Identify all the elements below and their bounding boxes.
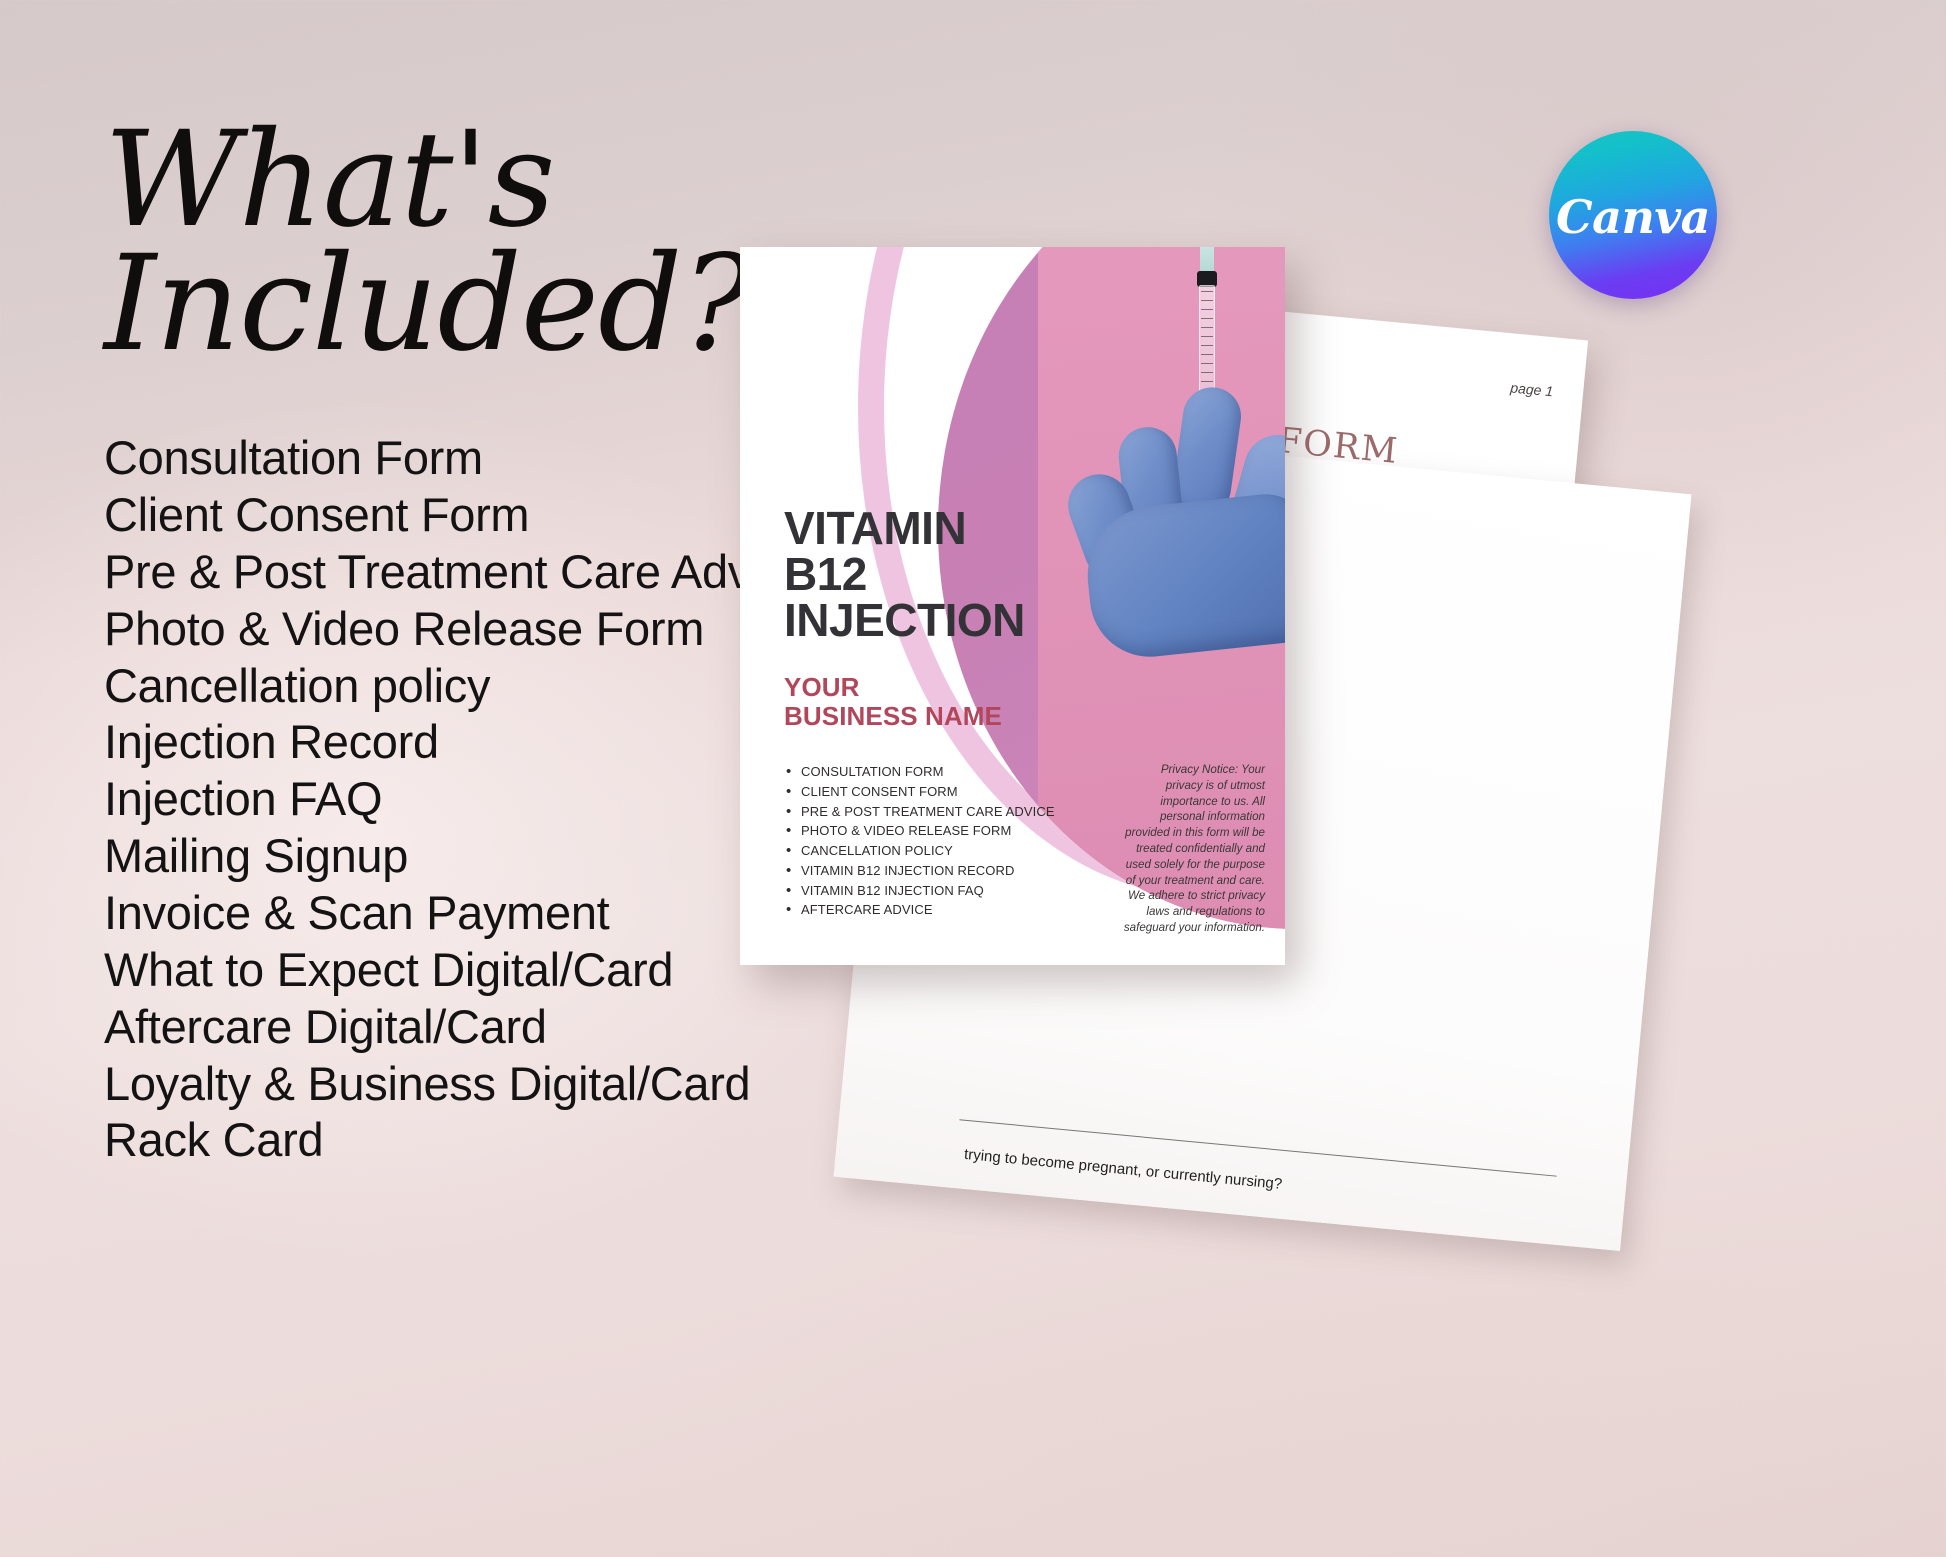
list-item: VITAMIN B12 INJECTION RECORD (784, 861, 1104, 881)
flyer-text-block: VITAMIN B12 INJECTION YOUR BUSINESS NAME… (784, 505, 1265, 951)
flyer-lower-section: CONSULTATION FORM CLIENT CONSENT FORM PR… (784, 762, 1265, 941)
list-item: PRE & POST TREATMENT CARE ADVICE (784, 802, 1104, 822)
list-item: CANCELLATION POLICY (784, 841, 1104, 861)
business-name-placeholder: YOUR BUSINESS NAME (784, 673, 1265, 730)
flyer-title: VITAMIN B12 INJECTION (784, 505, 1265, 643)
pregnancy-question-text: trying to become pregnant, or currently … (963, 1146, 1283, 1193)
page-number-label: page 1 (1510, 379, 1554, 399)
list-item: PHOTO & VIDEO RELEASE FORM (784, 821, 1104, 841)
vitamin-b12-flyer: VITAMIN B12 INJECTION YOUR BUSINESS NAME… (740, 247, 1285, 965)
privacy-notice-text: Privacy Notice: Your privacy is of utmos… (1122, 762, 1265, 941)
list-item: VITAMIN B12 INJECTION FAQ (784, 881, 1104, 901)
flyer-contents-list: CONSULTATION FORM CLIENT CONSENT FORM PR… (784, 762, 1104, 941)
list-item: Aftercare Digital/Card (104, 999, 894, 1056)
list-item: Rack Card (104, 1112, 894, 1169)
list-item: CONSULTATION FORM (784, 762, 1104, 782)
canva-badge[interactable]: Canva (1549, 131, 1717, 299)
list-item: CLIENT CONSENT FORM (784, 782, 1104, 802)
syringe-hub (1200, 247, 1214, 273)
list-item: AFTERCARE ADVICE (784, 900, 1104, 920)
list-item: Loyalty & Business Digital/Card (104, 1056, 894, 1113)
canva-wordmark: Canva (1556, 190, 1710, 244)
